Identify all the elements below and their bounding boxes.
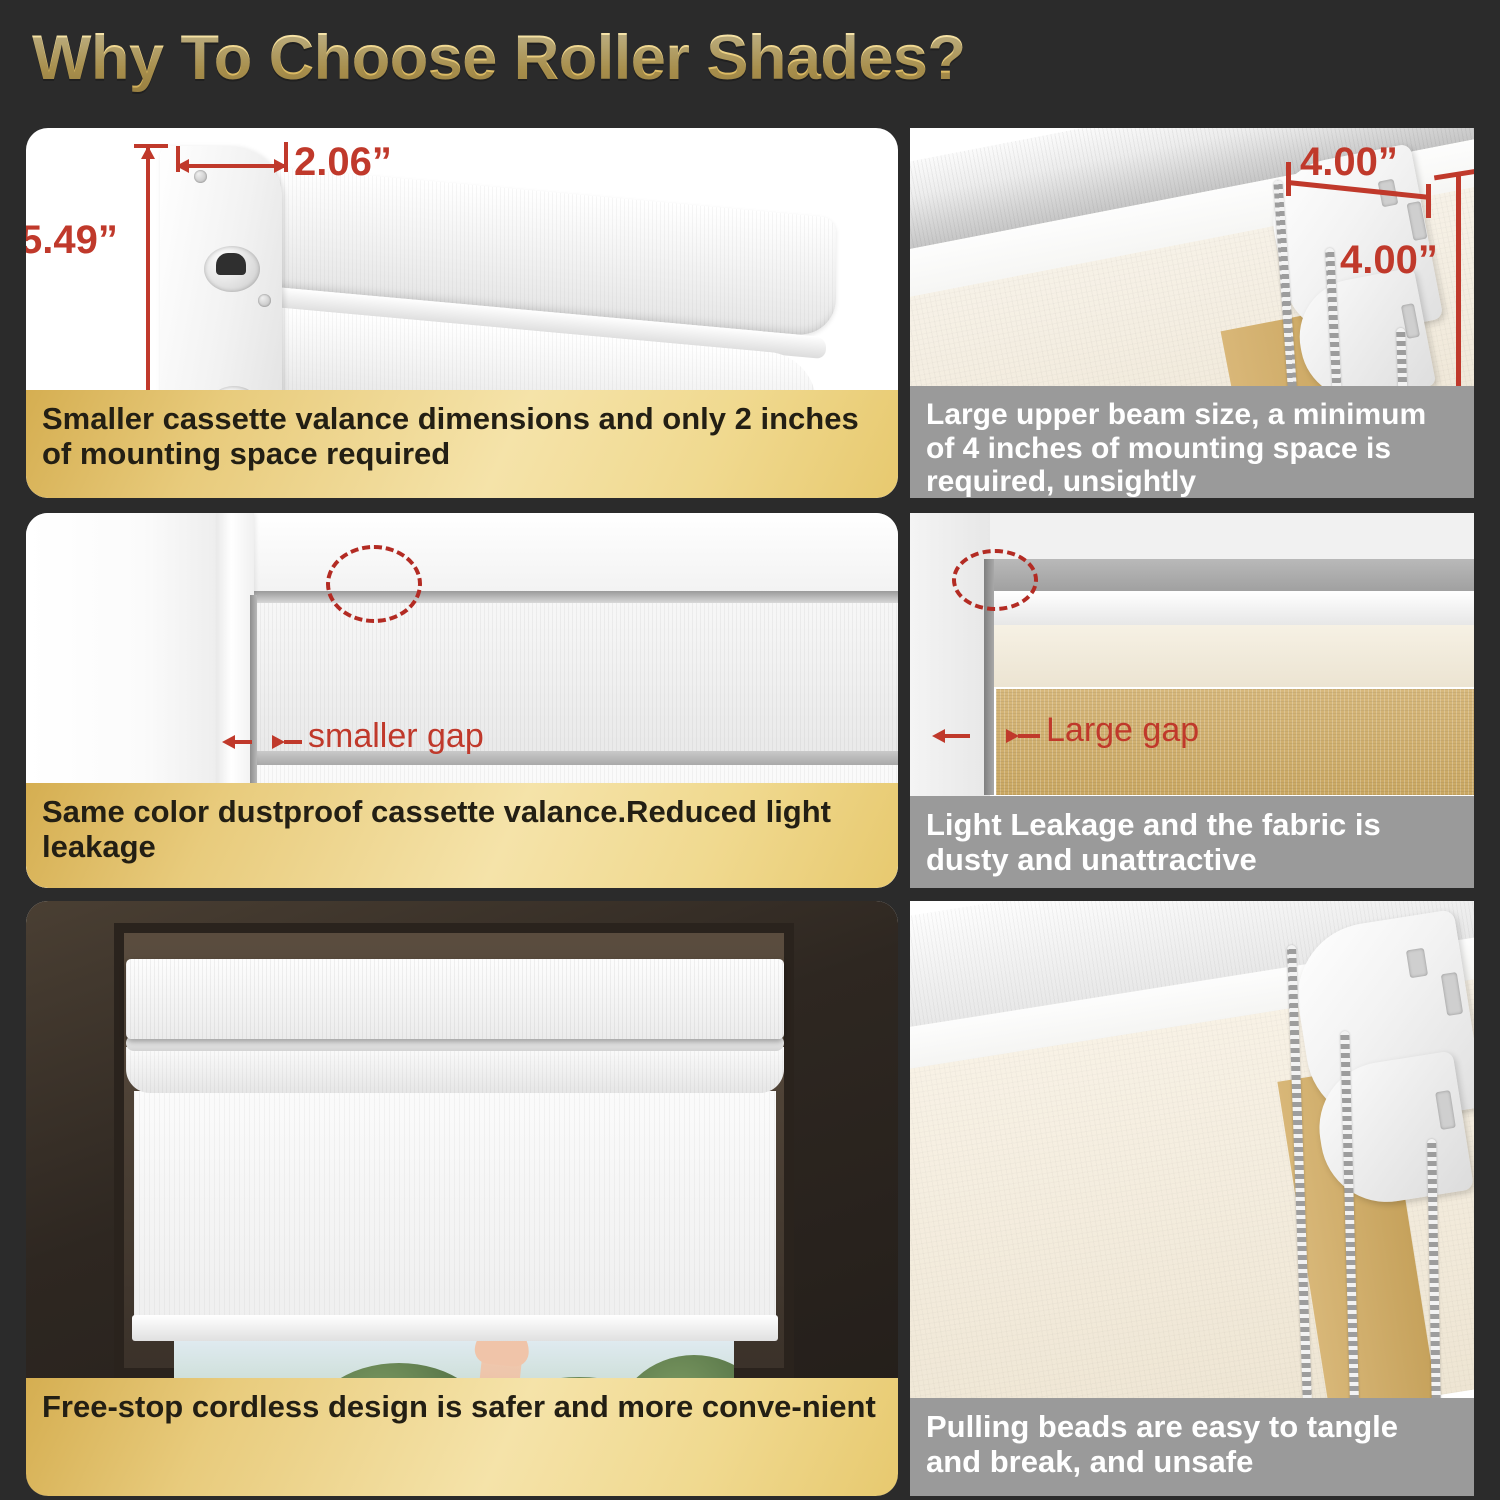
- dimension-label-width: 2.06”: [294, 140, 392, 185]
- panel-cordless-design: Free-stop cordless design is safer and m…: [26, 901, 898, 1496]
- mechanism-knob-icon: [204, 246, 260, 292]
- bottom-rail: [132, 1315, 778, 1341]
- panel-pulling-beads: Pulling beads are easy to tangle and bre…: [910, 901, 1474, 1496]
- panel-caption: Light Leakage and the fabric is dusty an…: [910, 796, 1474, 888]
- dimension-line-width: [178, 164, 286, 168]
- gap-label: smaller gap: [308, 717, 484, 756]
- comparison-grid: 2.06” 5.49” Smaller cassette valance dim…: [0, 118, 1500, 1500]
- panel-large-upper-beam: 4.00” 4.00” Large upper beam size, a min…: [910, 128, 1474, 498]
- panel-caption: Large upper beam size, a minimum of 4 in…: [910, 386, 1474, 498]
- cassette-valance: [126, 959, 784, 1039]
- highlight-circle: [952, 549, 1038, 611]
- panel-smaller-gap: smaller gap Same color dustproof cassett…: [26, 513, 898, 888]
- panel-caption: Same color dustproof cassette valance.Re…: [26, 783, 898, 888]
- page-title: Why To Choose Roller Shades?: [32, 22, 965, 94]
- dimension-label-width: 4.00”: [1300, 140, 1398, 185]
- highlight-circle: [326, 545, 422, 623]
- panel-caption: Free-stop cordless design is safer and m…: [26, 1378, 898, 1496]
- panel-large-gap: Large gap Light Leakage and the fabric i…: [910, 513, 1474, 888]
- panel-caption: Pulling beads are easy to tangle and bre…: [910, 1398, 1474, 1496]
- dimension-label-height: 5.49”: [26, 218, 118, 263]
- dimension-line-height: [1456, 172, 1461, 422]
- dimension-label-height: 4.00”: [1340, 238, 1438, 283]
- roller-shade-fabric: [134, 1091, 776, 1319]
- gap-label: Large gap: [1046, 711, 1199, 750]
- panel-caption: Smaller cassette valance dimensions and …: [26, 390, 898, 498]
- panel-smaller-cassette: 2.06” 5.49” Smaller cassette valance dim…: [26, 128, 898, 498]
